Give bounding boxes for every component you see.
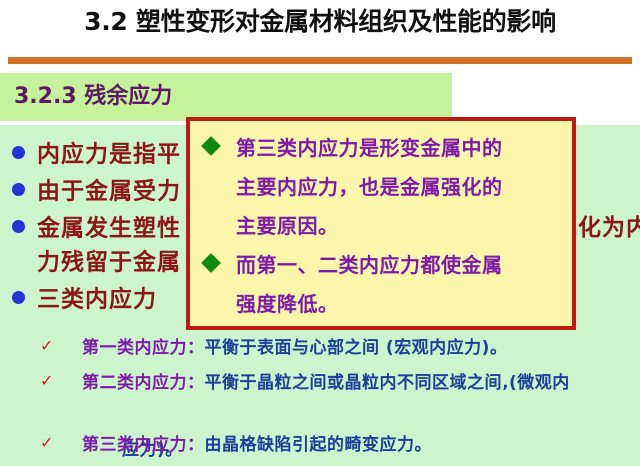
check-mark-icon: ✓ [40,371,62,390]
green-diamond-icon [201,136,221,156]
list-item: 三类内应力 [12,282,157,316]
green-diamond-icon [201,253,221,273]
list-item-text: 三类内应力 [37,287,157,313]
list-item: ✓第二类内应力：平衡于晶粒之间或晶粒内不同区域之间‚(微观内 应力)。 [40,368,640,393]
occluded-text-fragment: 化为内应 [578,208,640,242]
definition-description: 平衡于表面与心部之间 (宏观内应力)。 [205,338,508,358]
callout-line: 强度降低。 [236,285,572,324]
list-item: 内应力是指平 [12,137,181,171]
callout-line: 主要内应力，也是金属强化的 [236,168,572,207]
slide-root: 3.2 塑性变形对金属材料组织及性能的影响 3.2.3 残余应力 内应力是指平 … [0,0,640,466]
page-title: 3.2 塑性变形对金属材料组织及性能的影响 [0,2,640,42]
list-item-text: 力残留于金属 [37,250,181,276]
callout-item: 而第一、二类内应力都使金属 强度降低。 [200,246,572,324]
definition-term: 第二类内应力： [82,373,205,393]
callout-box: 第三类内应力是形变金属中的 主要内应力，也是金属强化的 主要原因。 而第一、二类… [186,117,576,330]
check-mark-icon: ✓ [40,433,62,452]
list-item-text: 内应力是指平 [37,142,181,168]
callout-line: 而第一、二类内应力都使金属 [236,246,572,285]
definition-term: 第三类内应力： [82,435,205,455]
list-item-continuation: 力残留于金属 [12,245,181,279]
blue-dot-icon [12,220,25,233]
callout-item: 第三类内应力是形变金属中的 主要内应力，也是金属强化的 主要原因。 [200,129,572,246]
definition-description: 由晶格缺陷引起的畸变应力。 [205,435,433,455]
list-item: 金属发生塑性 [12,211,181,245]
list-item: ✓第三类内应力：由晶格缺陷引起的畸变应力。 [40,430,640,455]
callout-line: 第三类内应力是形变金属中的 [236,129,572,168]
title-divider [8,57,632,64]
bullet-spacer [12,254,25,267]
definition-description: 平衡于晶粒之间或晶粒内不同区域之间‚(微观内 [205,373,570,393]
section-heading: 3.2.3 残余应力 [14,73,172,121]
list-item-text: 金属发生塑性 [37,216,181,242]
list-item: 由于金属受力 [12,174,181,208]
definition-term: 第一类内应力： [82,338,205,358]
list-item: ✓第一类内应力：平衡于表面与心部之间 (宏观内应力)。 [40,333,640,358]
callout-item-lines: 第三类内应力是形变金属中的 主要内应力，也是金属强化的 主要原因。 [236,129,572,246]
callout-line: 主要原因。 [236,207,572,246]
blue-dot-icon [12,146,25,159]
blue-dot-icon [12,183,25,196]
blue-dot-icon [12,291,25,304]
callout-item-lines: 而第一、二类内应力都使金属 强度降低。 [236,246,572,324]
list-item-text: 由于金属受力 [37,179,181,205]
check-mark-icon: ✓ [40,336,62,355]
